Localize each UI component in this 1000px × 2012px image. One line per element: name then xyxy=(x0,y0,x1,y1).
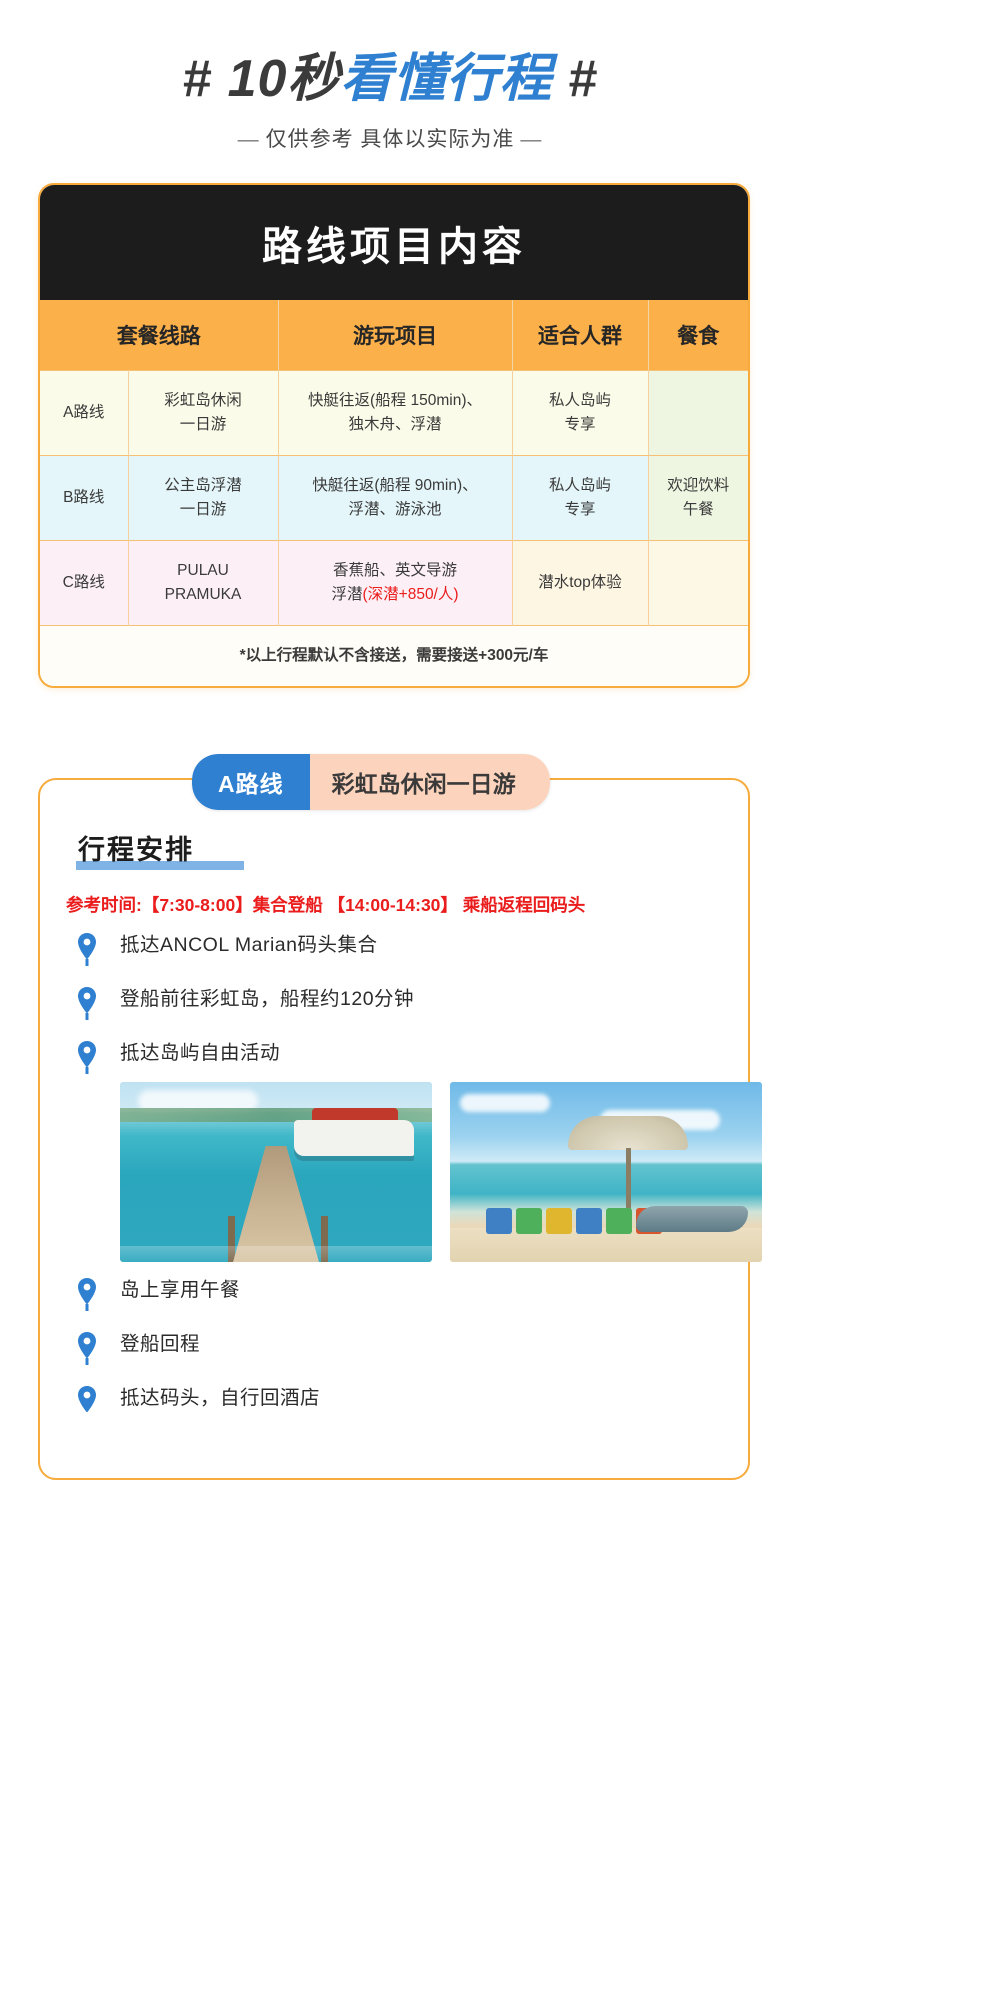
table-banner-title: 路线项目内容 xyxy=(39,184,749,300)
map-pin-icon xyxy=(77,1386,97,1412)
activity-line1: 快艇往返(船程 150min)、 xyxy=(283,389,508,413)
page-subtitle: —仅供参考 具体以实际为准— xyxy=(20,123,760,153)
timeline-connector xyxy=(86,1013,89,1019)
meal-line1: 欢迎饮料 xyxy=(653,474,745,498)
table-footnote: *以上行程默认不含接送，需要接送+300元/车 xyxy=(40,625,748,686)
kayak-shape xyxy=(636,1206,748,1232)
route-a-tab[interactable]: A路线 彩虹岛休闲一日游 xyxy=(192,754,550,810)
jetty-walkway-shape xyxy=(233,1146,319,1262)
route-name-line2: PRAMUKA xyxy=(133,583,274,607)
timeline-item: 岛上享用午餐 xyxy=(70,1276,722,1330)
table-row: B路线 公主岛浮潜 一日游 快艇往返(船程 90min)、 浮潜、游泳池 私人岛… xyxy=(40,455,748,540)
activity-line2: 浮潜、游泳池 xyxy=(283,498,508,522)
route-name-line1: PULAU xyxy=(133,559,274,583)
schedule-title: 行程安排 xyxy=(78,828,194,867)
timeline-item-label: 岛上享用午餐 xyxy=(104,1276,240,1303)
beach-chair-shape xyxy=(486,1208,512,1234)
subtitle-dash-right: — xyxy=(514,128,548,151)
column-header-activities: 游玩项目 xyxy=(278,300,512,371)
title-dark-part: 10秒 xyxy=(228,50,341,108)
timeline-item: 登船前往彩虹岛，船程约120分钟 xyxy=(70,985,722,1039)
map-pin-icon xyxy=(77,1278,97,1304)
boat-hull-shape xyxy=(294,1120,414,1156)
activity-line2: 独木舟、浮潜 xyxy=(283,413,508,437)
timeline-rail xyxy=(70,985,104,1013)
beach-chair-shape xyxy=(606,1208,632,1234)
crowd-line1: 私人岛屿 xyxy=(517,389,644,413)
map-pin-icon xyxy=(77,987,97,1013)
timeline-item: 抵达岛屿自由活动 xyxy=(70,1039,722,1276)
photo-jetty xyxy=(120,1082,432,1262)
route-a-tag-code: A路线 xyxy=(192,754,310,810)
title-hash-left: # xyxy=(182,50,212,108)
route-a-section: A路线 彩虹岛休闲一日游 行程安排 参考时间:【7:30-8:00】集合登船 【… xyxy=(38,778,750,1480)
timeline-item: 抵达ANCOL Marian码头集合 xyxy=(70,931,722,985)
column-header-meal: 餐食 xyxy=(648,300,748,371)
schedule-title-wrap: 行程安排 xyxy=(66,828,722,870)
activity-line2: 浮潜(深潜+850/人) xyxy=(283,583,508,607)
itinerary-timeline: 抵达ANCOL Marian码头集合 登船前往彩虹岛，船程约120分钟 抵达岛屿… xyxy=(66,931,722,1438)
cell-activities: 快艇往返(船程 90min)、 浮潜、游泳池 xyxy=(278,455,512,540)
page-header: # 10秒看懂行程 # —仅供参考 具体以实际为准— xyxy=(20,0,760,153)
timeline-rail xyxy=(70,1039,104,1067)
timeline-item-label: 登船前往彩虹岛，船程约120分钟 xyxy=(104,985,414,1012)
column-header-package: 套餐线路 xyxy=(40,300,278,371)
route-a-tag-name: 彩虹岛休闲一日游 xyxy=(310,754,550,810)
column-header-crowd: 适合人群 xyxy=(512,300,648,371)
timeline-rail xyxy=(70,1276,104,1304)
cell-activities: 快艇往返(船程 150min)、 独木舟、浮潜 xyxy=(278,370,512,455)
cell-route-code: A路线 xyxy=(40,370,128,455)
map-pin-icon xyxy=(77,933,97,959)
timeline-connector xyxy=(86,1358,89,1364)
timeline-rail xyxy=(70,1384,104,1412)
crowd-line1: 私人岛屿 xyxy=(517,474,644,498)
subtitle-text: 仅供参考 具体以实际为准 xyxy=(266,128,515,151)
cell-route-name: PULAU PRAMUKA xyxy=(128,540,278,625)
umbrella-canopy-shape xyxy=(568,1116,688,1150)
route-name-line1: 公主岛浮潜 xyxy=(133,474,274,498)
timeline-item-label: 抵达码头，自行回酒店 xyxy=(104,1384,320,1411)
map-pin-icon xyxy=(77,1332,97,1358)
page-root: # 10秒看懂行程 # —仅供参考 具体以实际为准— 路线项目内容 套餐线路 游… xyxy=(0,0,780,1480)
beach-chair-shape xyxy=(516,1208,542,1234)
timeline-item-label: 抵达岛屿自由活动 xyxy=(104,1039,762,1066)
timeline-connector xyxy=(86,1067,89,1073)
cell-route-code: B路线 xyxy=(40,455,128,540)
reference-time-note: 参考时间:【7:30-8:00】集合登船 【14:00-14:30】 乘船返程回… xyxy=(66,892,722,917)
activity-line1: 快艇往返(船程 90min)、 xyxy=(283,474,508,498)
crowd-line2: 专享 xyxy=(517,413,644,437)
umbrella-pole-shape xyxy=(626,1148,631,1214)
timeline-rail xyxy=(70,1330,104,1358)
title-hash-right: # xyxy=(568,50,598,108)
activity-line2-note: (深潜+850/人) xyxy=(362,586,458,603)
beach-chair-shape xyxy=(576,1208,602,1234)
crowd-line2: 专享 xyxy=(517,498,644,522)
cell-crowd: 私人岛屿 专享 xyxy=(512,455,648,540)
route-name-line1: 彩虹岛休闲 xyxy=(133,389,274,413)
timeline-item-label: 抵达ANCOL Marian码头集合 xyxy=(104,931,377,958)
photo-beach-umbrella xyxy=(450,1082,762,1262)
crowd-line1: 潜水top体验 xyxy=(517,571,644,595)
table-row: C路线 PULAU PRAMUKA 香蕉船、英文导游 浮潜(深潜+850/人) … xyxy=(40,540,748,625)
water-foam-shape xyxy=(120,1246,432,1262)
cell-crowd: 私人岛屿 专享 xyxy=(512,370,648,455)
cloud-shape xyxy=(460,1094,550,1112)
timeline-connector xyxy=(86,1304,89,1310)
activity-line2-text: 独木舟、浮潜 xyxy=(348,416,441,433)
activity-line2-text: 浮潜 xyxy=(331,586,362,603)
cell-crowd: 潜水top体验 xyxy=(512,540,648,625)
cell-activities: 香蕉船、英文导游 浮潜(深潜+850/人) xyxy=(278,540,512,625)
cell-route-name: 公主岛浮潜 一日游 xyxy=(128,455,278,540)
table-row: A路线 彩虹岛休闲 一日游 快艇往返(船程 150min)、 独木舟、浮潜 私人… xyxy=(40,370,748,455)
cell-route-name: 彩虹岛休闲 一日游 xyxy=(128,370,278,455)
timeline-item: 抵达码头，自行回酒店 xyxy=(70,1384,722,1438)
route-name-line2: 一日游 xyxy=(133,413,274,437)
cell-route-code: C路线 xyxy=(40,540,128,625)
timeline-rail xyxy=(70,931,104,959)
subtitle-dash-left: — xyxy=(232,128,266,151)
cell-meal: 欢迎饮料 午餐 xyxy=(648,455,748,540)
page-title: # 10秒看懂行程 # xyxy=(182,52,598,107)
meal-line2: 午餐 xyxy=(653,498,745,522)
timeline-item: 登船回程 xyxy=(70,1330,722,1384)
timeline-connector xyxy=(86,959,89,965)
activity-line2-text: 浮潜、游泳池 xyxy=(348,501,441,518)
timeline-item-label: 登船回程 xyxy=(104,1330,200,1357)
table-header-row: 套餐线路 游玩项目 适合人群 餐食 xyxy=(40,300,748,371)
activity-line1: 香蕉船、英文导游 xyxy=(283,559,508,583)
route-table-card: 路线项目内容 套餐线路 游玩项目 适合人群 餐食 A路线 彩虹岛休闲 一日游 xyxy=(38,183,750,688)
cell-meal xyxy=(648,540,748,625)
timeline-photo-gallery xyxy=(104,1082,762,1262)
route-name-line2: 一日游 xyxy=(133,498,274,522)
table-footnote-row: *以上行程默认不含接送，需要接送+300元/车 xyxy=(40,625,748,686)
route-table: 套餐线路 游玩项目 适合人群 餐食 A路线 彩虹岛休闲 一日游 快艇往返(船程 … xyxy=(40,300,748,686)
title-blue-part: 看懂行程 xyxy=(340,50,552,108)
beach-chair-shape xyxy=(546,1208,572,1234)
cell-meal xyxy=(648,370,748,455)
map-pin-icon xyxy=(77,1041,97,1067)
